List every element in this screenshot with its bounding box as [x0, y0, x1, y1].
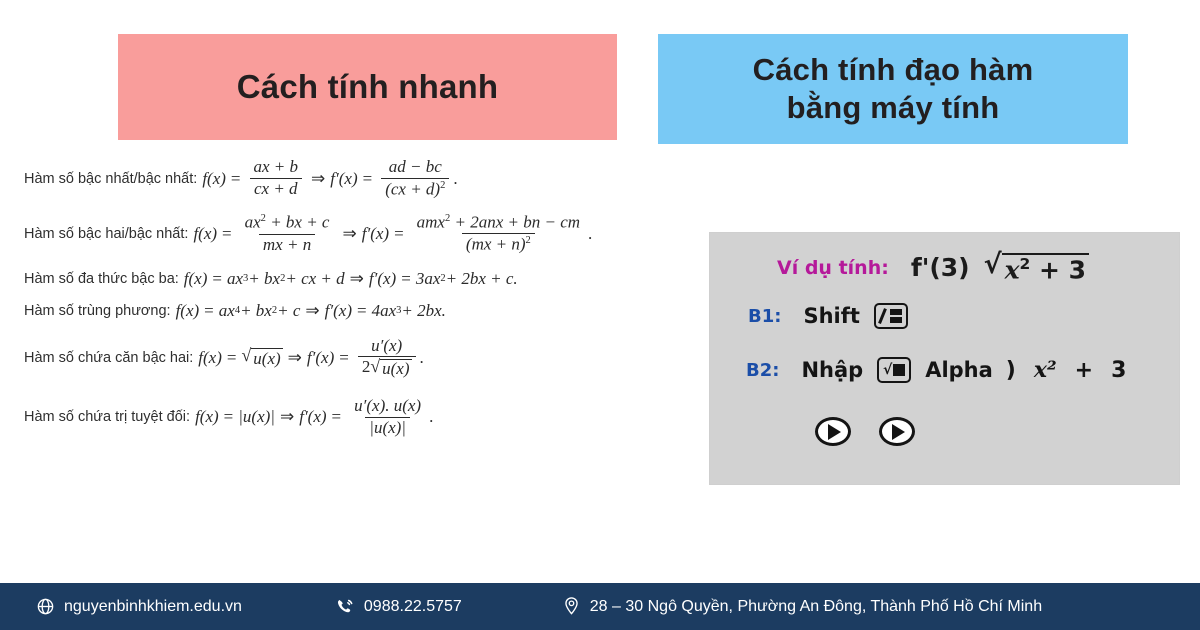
- phone-ring-icon: [335, 597, 355, 617]
- example-fx: f'(3): [911, 253, 970, 282]
- footer-address[interactable]: 28 – 30 Ngô Quyền, Phường An Đông, Thành…: [562, 596, 1042, 617]
- formula-row: Hàm số đa thức bậc ba: f(x)=ax3 + bx2 + …: [24, 269, 714, 289]
- step-2-token-alpha: Alpha: [925, 358, 993, 382]
- formula-label: Hàm số chứa căn bậc hai:: [24, 350, 193, 366]
- calculator-example-line: Ví dụ tính: f'(3) √ x2 + 3: [777, 251, 1089, 284]
- footer-phone[interactable]: 0988.22.5757: [335, 597, 462, 617]
- globe-icon: [36, 597, 55, 616]
- calculator-play-buttons: [815, 417, 915, 446]
- step-2-token-three: 3: [1111, 358, 1126, 383]
- formula-row: Hàm số bậc hai/bậc nhất: f(x)= ax2 + bx …: [24, 213, 714, 255]
- formula-label: Hàm số chứa trị tuyệt đối:: [24, 409, 190, 425]
- formula-label: Hàm số trùng phương:: [24, 303, 171, 319]
- formula-row: Hàm số chứa trị tuyệt đối: f(x)=|u(x)| ⇒…: [24, 397, 714, 437]
- poster-canvas: Cách tính nhanh Cách tính đạo hàm bằng m…: [0, 0, 1200, 630]
- step-2-token-x-squared: x²: [1034, 357, 1057, 383]
- formula-label: Hàm số bậc hai/bậc nhất:: [24, 226, 188, 242]
- formula-label: Hàm số đa thức bậc ba:: [24, 271, 179, 287]
- banner-calculator-method-line2: bằng máy tính: [753, 89, 1034, 127]
- play-icon[interactable]: [815, 417, 851, 446]
- example-label: Ví dụ tính:: [777, 257, 889, 279]
- step-2-action: Nhập: [801, 358, 863, 382]
- banner-calculator-method: Cách tính đạo hàm bằng máy tính: [658, 34, 1128, 144]
- square-root-key-icon[interactable]: √: [877, 357, 911, 383]
- step-1-key-shift: Shift: [803, 304, 859, 328]
- formula-list: Hàm số bậc nhất/bậc nhất: f(x)= ax + bcx…: [24, 158, 714, 441]
- derivative-key-icon[interactable]: [874, 303, 908, 329]
- formula-expression: f(x)= √u(x) ⇒ f′(x)= u′(x)2√u(x) .: [198, 337, 428, 379]
- footer-website[interactable]: nguyenbinhkhiem.edu.vn: [36, 597, 242, 616]
- formula-row: Hàm số bậc nhất/bậc nhất: f(x)= ax + bcx…: [24, 158, 714, 199]
- banner-quick-method-text: Cách tính nhanh: [237, 68, 499, 106]
- formula-expression: f(x)=|u(x)| ⇒ f′(x)= u′(x). u(x)|u(x)| .: [195, 397, 438, 437]
- formula-row: Hàm số chứa căn bậc hai: f(x)= √u(x) ⇒ f…: [24, 337, 714, 379]
- formula-expression: f(x)= ax2 + bx + cmx + n ⇒ f′(x)= amx2 +…: [193, 213, 597, 255]
- footer-bar: nguyenbinhkhiem.edu.vn 0988.22.5757 28 –…: [0, 583, 1200, 630]
- formula-row: Hàm số trùng phương: f(x)=ax4 + bx2 + c …: [24, 301, 714, 321]
- map-pin-icon: [562, 596, 581, 617]
- calculator-step-2: B2: Nhập √ Alpha ) x² + 3: [746, 357, 1135, 383]
- formula-expression: f(x)=ax4 + bx2 + c ⇒ f′(x)=4ax3 + 2bx.: [176, 301, 446, 321]
- footer-phone-text: 0988.22.5757: [364, 598, 462, 616]
- example-expression: f'(3) √ x2 + 3: [911, 251, 1089, 284]
- formula-label: Hàm số bậc nhất/bậc nhất:: [24, 171, 197, 187]
- formula-expression: f(x)=ax3 + bx2 + cx + d ⇒ f′(x)=3ax2 + 2…: [184, 269, 518, 289]
- banner-quick-method: Cách tính nhanh: [118, 34, 617, 140]
- step-1-tag: B1:: [748, 306, 781, 327]
- step-2-tag: B2:: [746, 360, 779, 381]
- footer-website-text: nguyenbinhkhiem.edu.vn: [64, 598, 242, 616]
- calculator-step-1: B1: Shift: [748, 303, 922, 329]
- step-2-token-paren: ): [1006, 358, 1016, 383]
- formula-expression: f(x)= ax + bcx + d ⇒ f′(x)= ad − bc(cx +…: [202, 158, 462, 199]
- calculator-instructions-panel: Ví dụ tính: f'(3) √ x2 + 3 B1: Shift B2:…: [709, 232, 1180, 485]
- step-2-token-plus: +: [1075, 358, 1093, 383]
- square-root-glyph: √ x2 + 3: [984, 251, 1089, 284]
- footer-address-text: 28 – 30 Ngô Quyền, Phường An Đông, Thành…: [590, 598, 1042, 616]
- banner-calculator-method-line1: Cách tính đạo hàm: [753, 51, 1034, 89]
- play-icon[interactable]: [879, 417, 915, 446]
